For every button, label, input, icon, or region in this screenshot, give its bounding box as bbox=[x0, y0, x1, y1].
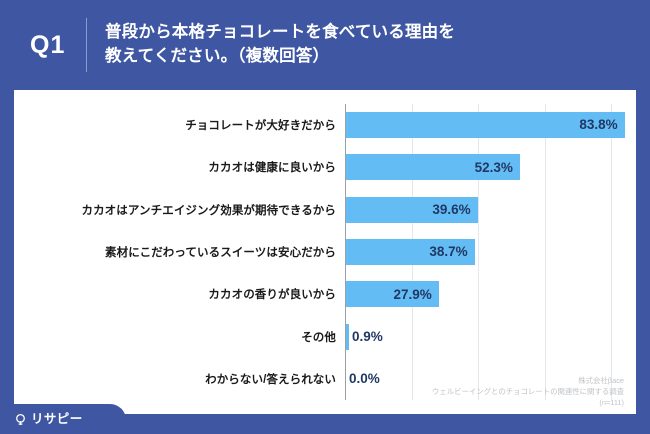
chart-plot-area: チョコレートが大好きだから83.8%カカオは健康に良いから52.3%カカオはアン… bbox=[345, 104, 627, 400]
bar-container: 27.9% bbox=[346, 281, 439, 307]
header-divider bbox=[86, 18, 87, 72]
bar-value-label: 83.8% bbox=[579, 118, 617, 132]
chart-bar-row: カカオの香りが良いから27.9% bbox=[345, 273, 627, 315]
bar: 39.6% bbox=[346, 197, 478, 223]
chart-bar-row: カカオはアンチエイジング効果が期待できるから39.6% bbox=[345, 189, 627, 231]
chart-bar-row: その他0.9% bbox=[345, 315, 627, 357]
chart-card: チョコレートが大好きだから83.8%カカオは健康に良いから52.3%カカオはアン… bbox=[14, 90, 636, 414]
question-number: Q1 bbox=[30, 33, 78, 58]
credit-sample-size: (n=111) bbox=[432, 397, 624, 408]
chart-category-axis bbox=[345, 104, 346, 400]
bar-value-label: 0.0% bbox=[349, 372, 380, 386]
bar-container: 39.6% bbox=[346, 197, 478, 223]
bar-value-label: 0.9% bbox=[352, 330, 383, 344]
bar-category-label: チョコレートが大好きだから bbox=[185, 117, 336, 133]
bar-category-label: カカオはアンチエイジング効果が期待できるから bbox=[81, 202, 336, 218]
credit-survey: ウェルビーイングとのチョコレートの関連性に関する調査 bbox=[432, 386, 624, 397]
bar-container: 83.8% bbox=[346, 112, 625, 138]
bar-category-label: 素材にこだわっているスイーツは安心だから bbox=[105, 244, 336, 260]
bar-category-label: その他 bbox=[301, 329, 336, 345]
bar: 52.3% bbox=[346, 154, 520, 180]
chart-bar-row: チョコレートが大好きだから83.8% bbox=[345, 104, 627, 146]
bar-container: 38.7% bbox=[346, 239, 475, 265]
bar-container: 0.0% bbox=[346, 366, 380, 392]
bar-value-label: 27.9% bbox=[393, 288, 431, 302]
bar: 27.9% bbox=[346, 281, 439, 307]
slide-root: Q1 普段から本格チョコレートを食べている理由を 教えてください。（複数回答） … bbox=[0, 0, 650, 434]
bar-value-label: 39.6% bbox=[432, 203, 470, 217]
credit-company: 株式会社βace bbox=[432, 375, 624, 386]
brand-logo: リサピー bbox=[0, 404, 126, 434]
bar-container: 52.3% bbox=[346, 154, 520, 180]
bar-category-label: カカオは健康に良いから bbox=[208, 159, 336, 175]
chart-bar-row: カカオは健康に良いから52.3% bbox=[345, 146, 627, 188]
bar-chart: チョコレートが大好きだから83.8%カカオは健康に良いから52.3%カカオはアン… bbox=[14, 90, 636, 414]
bar bbox=[346, 324, 349, 350]
bar-value-label: 52.3% bbox=[475, 161, 513, 175]
chart-credits: 株式会社βace ウェルビーイングとのチョコレートの関連性に関する調査 (n=1… bbox=[432, 375, 624, 408]
bar-category-label: わからない/答えられない bbox=[205, 371, 336, 387]
location-pin-icon bbox=[14, 413, 27, 426]
chart-bar-row: 素材にこだわっているスイーツは安心だから38.7% bbox=[345, 231, 627, 273]
slide-header: Q1 普段から本格チョコレートを食べている理由を 教えてください。（複数回答） bbox=[0, 0, 650, 90]
question-title: 普段から本格チョコレートを食べている理由を 教えてください。（複数回答） bbox=[105, 21, 455, 69]
bar: 83.8% bbox=[346, 112, 625, 138]
brand-logo-text: リサピー bbox=[31, 413, 83, 426]
bar-container: 0.9% bbox=[346, 324, 383, 350]
bar-value-label: 38.7% bbox=[429, 245, 467, 259]
bar: 38.7% bbox=[346, 239, 475, 265]
bar-category-label: カカオの香りが良いから bbox=[208, 286, 336, 302]
